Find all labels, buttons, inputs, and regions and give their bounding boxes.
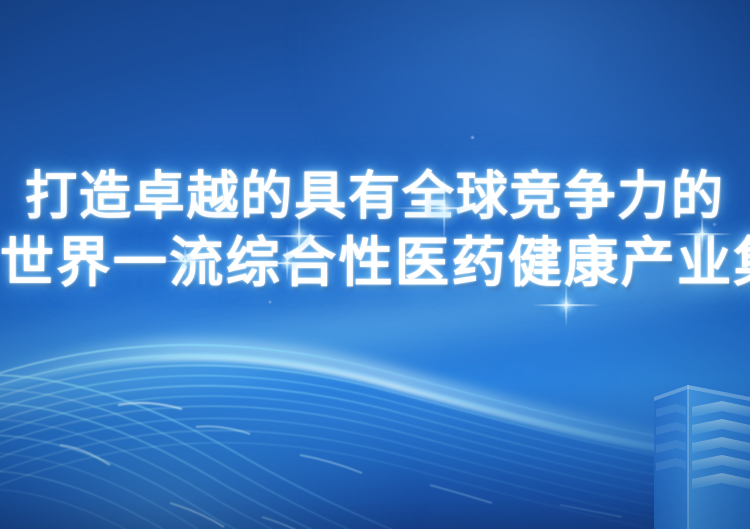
skyscraper-silhouette	[632, 377, 750, 529]
banner-root: 打造卓越的具有全球竞争力的 世界一流综合性医药健康产业集团	[0, 0, 750, 529]
light-speck	[470, 135, 475, 140]
headline-line-2: 世界一流综合性医药健康产业集团	[0, 236, 750, 290]
headline-line-1: 打造卓越的具有全球竞争力的	[0, 172, 750, 224]
headline-block: 打造卓越的具有全球竞争力的 世界一流综合性医药健康产业集团	[0, 172, 750, 290]
